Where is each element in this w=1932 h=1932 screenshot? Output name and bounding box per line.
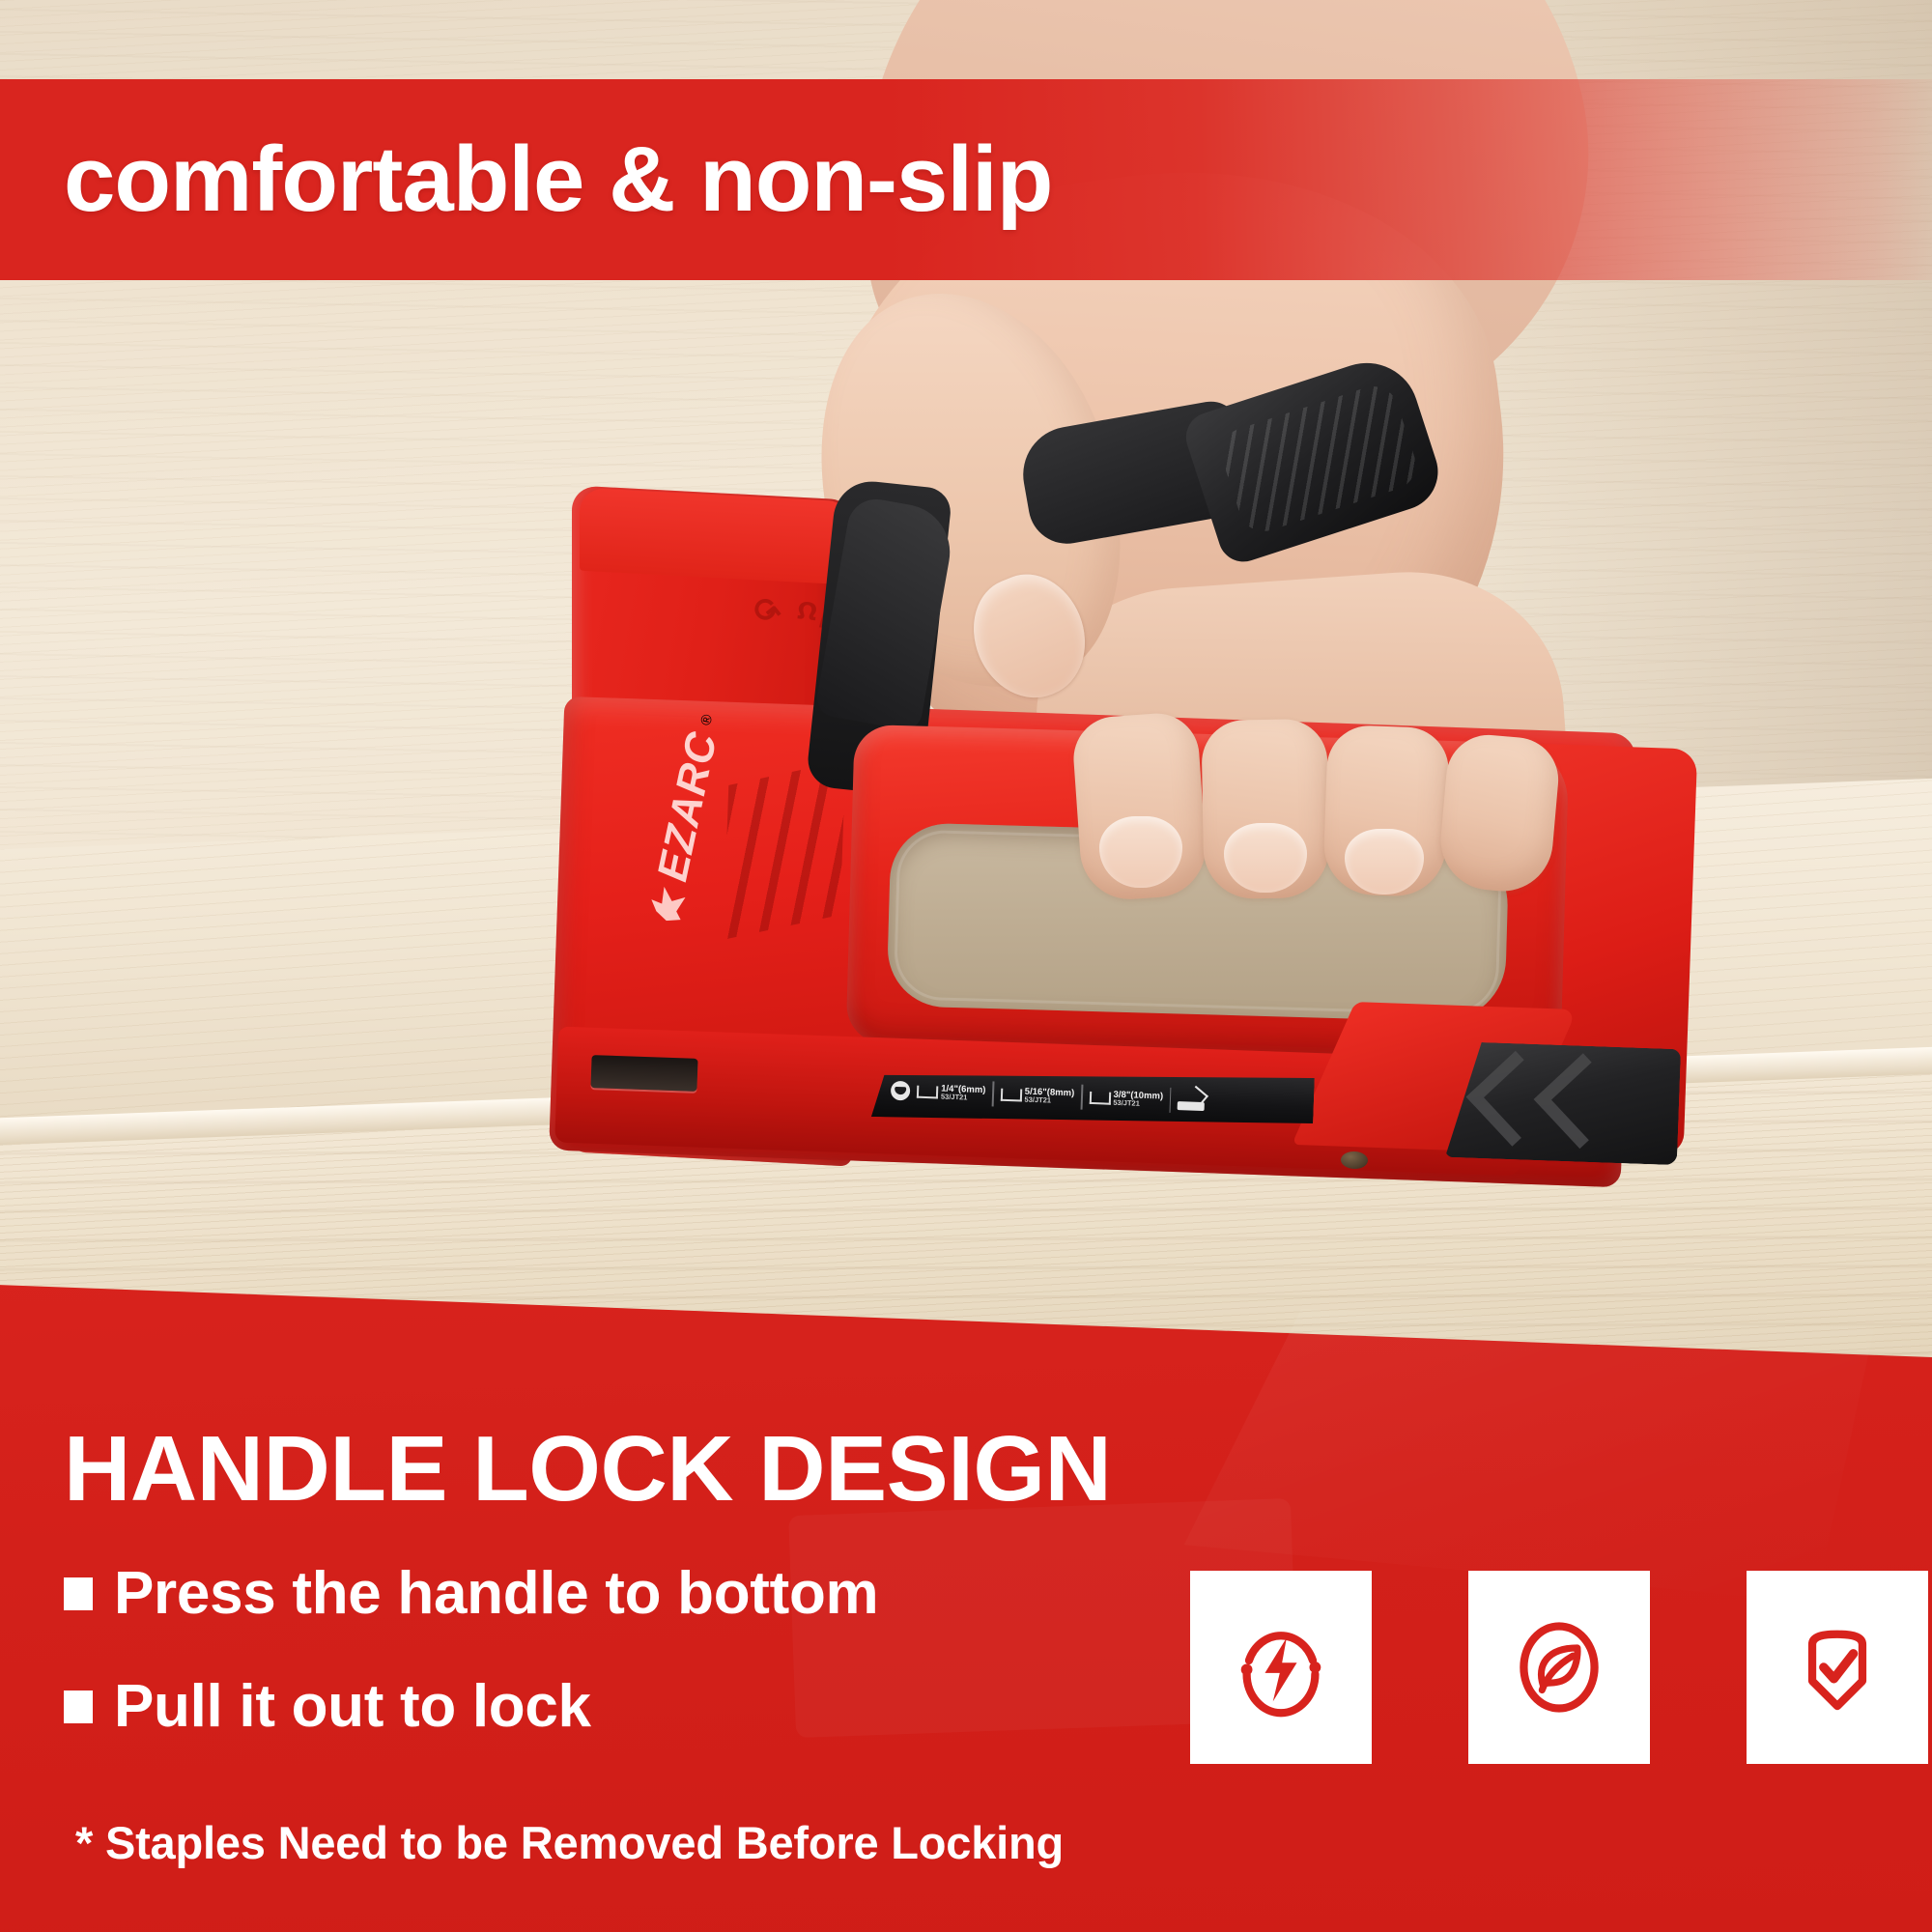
eco-leaf-icon (1502, 1610, 1616, 1724)
staple-shape-icon (917, 1085, 938, 1098)
ezarc-trademark: ® (697, 713, 716, 726)
staple-gun-ejection-slot (590, 1055, 697, 1092)
divider (1081, 1085, 1083, 1110)
ezarc-flame-icon (648, 885, 687, 923)
badge-quality (1747, 1571, 1928, 1764)
divider (992, 1081, 994, 1106)
staple-shape-icon (1000, 1088, 1021, 1101)
footnote-text: * Staples Need to be Removed Before Lock… (75, 1816, 1064, 1869)
power-bolt-icon (1224, 1610, 1338, 1724)
feature-heading: HANDLE LOCK DESIGN (64, 1416, 1111, 1522)
staple-gun-rear-rubber-pad (1445, 1041, 1681, 1165)
staple-size-3: 3/8"(10mm) 53/JT21 (1089, 1089, 1163, 1108)
top-headline-text: comfortable & non-slip (0, 127, 1052, 233)
bullet-square-icon (64, 1690, 93, 1723)
feature-badge-row (1190, 1571, 1928, 1764)
chevron-left-icon (1534, 1053, 1630, 1149)
staple-size-2: 5/16"(8mm) 53/JT21 (1000, 1086, 1074, 1105)
staple-load-direction-icon (1178, 1088, 1211, 1114)
staple-shape-icon (1089, 1091, 1110, 1104)
staple-head-icon (891, 1081, 911, 1101)
badge-eco (1468, 1571, 1650, 1764)
product-marketing-image: Ʊ/ʊ ⟲ EZARC ® (0, 0, 1932, 1932)
bullet-text-2: Pull it out to lock (114, 1672, 591, 1741)
feature-bullet-list: Press the handle to bottom Pull it out t… (64, 1559, 878, 1785)
staple-size-1: 1/4"(6mm) 53/JT21 (917, 1083, 986, 1101)
finger-pinky (1436, 731, 1562, 895)
ezarc-logo-text: EZARC (648, 727, 726, 886)
shield-check-icon (1780, 1610, 1894, 1724)
bullet-square-icon (64, 1577, 93, 1610)
badge-power (1190, 1571, 1372, 1764)
list-item: Press the handle to bottom (64, 1559, 878, 1628)
list-item: Pull it out to lock (64, 1672, 878, 1741)
top-headline-banner: comfortable & non-slip (0, 79, 1932, 280)
bullet-text-1: Press the handle to bottom (114, 1559, 878, 1628)
divider (1169, 1088, 1171, 1113)
